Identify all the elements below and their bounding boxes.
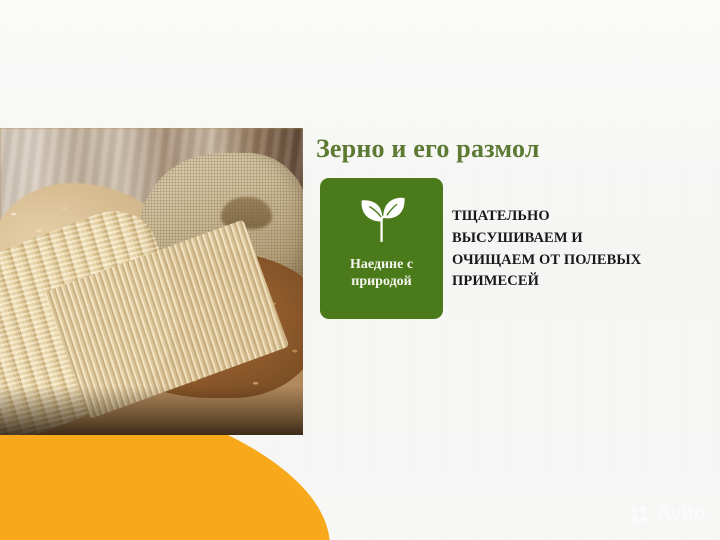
feature-description: ТЩАТЕЛЬНО ВЫСУШИВАЕМ И ОЧИЩАЕМ ОТ ПОЛЕВЫ… — [452, 206, 676, 293]
feature-line-4: ПРИМЕСЕЙ — [452, 273, 539, 289]
slide-canvas: Зерно и его размол Наедине с природой ТЩ… — [0, 0, 720, 540]
feature-line-3: ОЧИЩАЕМ ОТ ПОЛЕВЫХ — [452, 252, 641, 268]
photo-layers — [0, 128, 303, 435]
nature-badge-caption-line-1: Наедине с — [350, 257, 413, 272]
page-title: Зерно и его размол — [316, 134, 540, 164]
feature-line-1: ТЩАТЕЛЬНО — [452, 208, 550, 224]
nature-badge-caption: Наедине с природой — [320, 256, 443, 290]
photo-bottom-shadow — [0, 386, 303, 435]
grain-sack-photo — [0, 128, 303, 435]
nature-badge: Наедине с природой — [320, 178, 443, 319]
feature-line-2: ВЫСУШИВАЕМ И — [452, 230, 583, 246]
sprout-icon — [354, 192, 410, 244]
nature-badge-caption-line-2: природой — [351, 274, 411, 289]
